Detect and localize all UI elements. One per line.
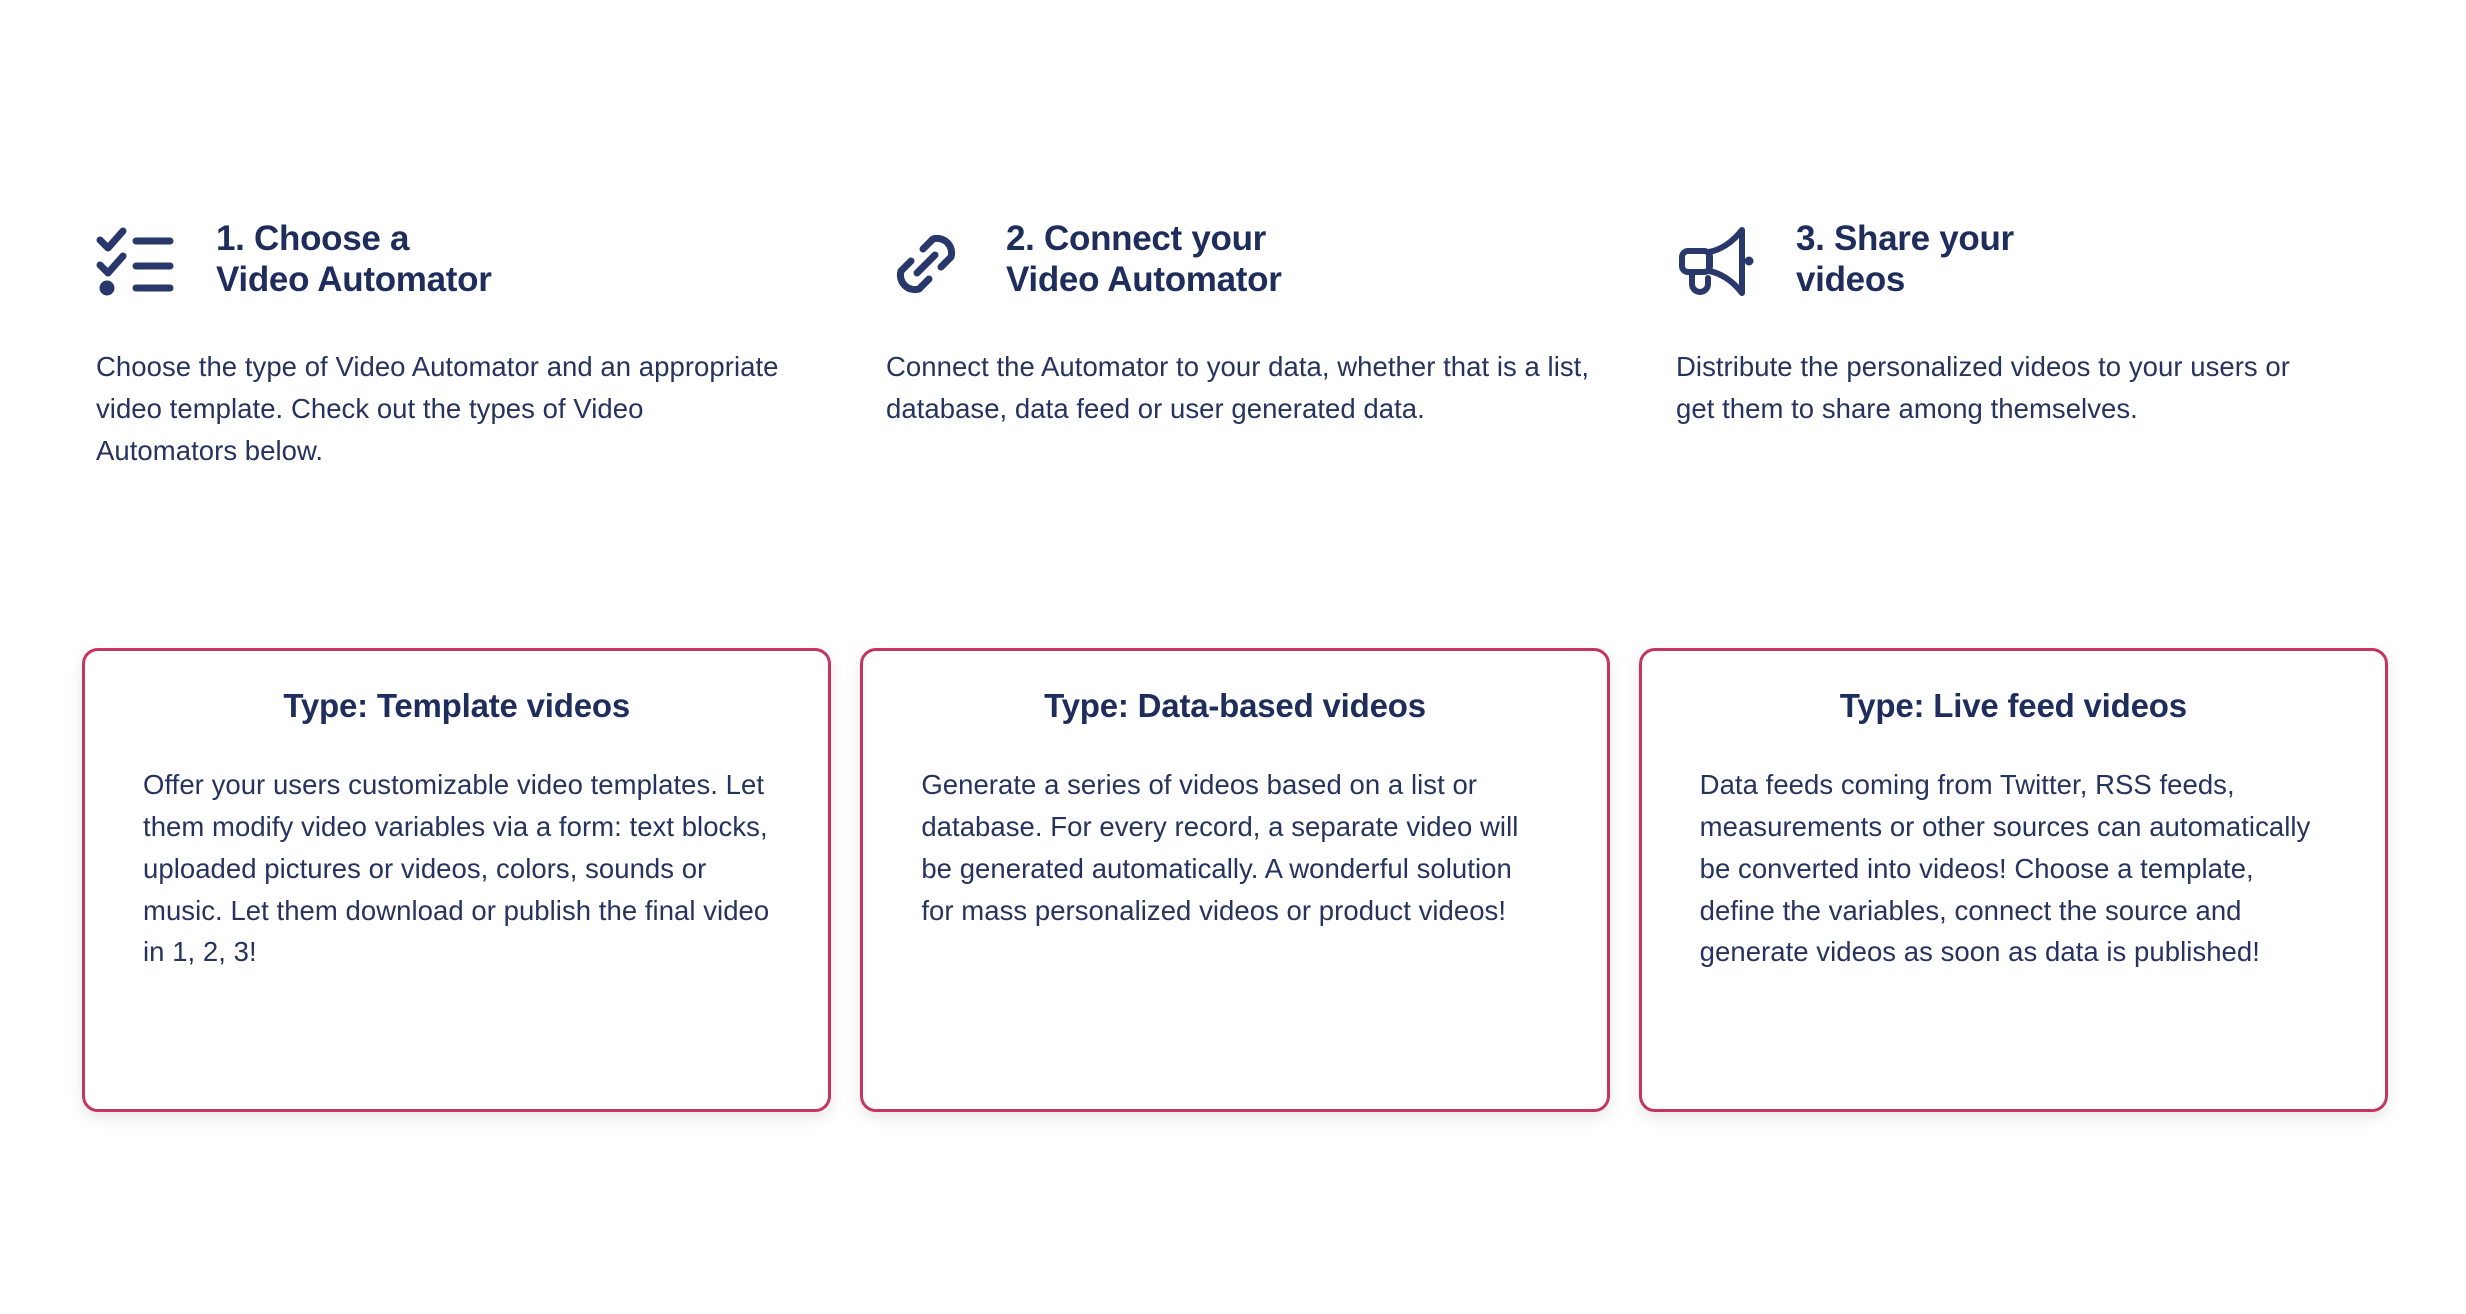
step-header-3: 3. Share your videos: [1676, 216, 2386, 308]
automator-types-section: Type: Template videos Offer your users c…: [82, 648, 2388, 1112]
step-description-1: Choose the type of Video Automator and a…: [96, 346, 786, 471]
card-title: Type: Live feed videos: [1700, 685, 2327, 726]
card-title: Type: Data-based videos: [921, 685, 1548, 726]
card-description: Data feeds coming from Twitter, RSS feed…: [1700, 764, 2327, 973]
megaphone-icon: [1676, 216, 1796, 300]
card-title: Type: Template videos: [143, 685, 770, 726]
step-item-2: 2. Connect your Video Automator Connect …: [886, 216, 1676, 471]
automator-type-card-live-feed[interactable]: Type: Live feed videos Data feeds coming…: [1639, 648, 2388, 1112]
link-chain-icon: [886, 216, 1006, 304]
page-root: 1. Choose a Video Automator Choose the t…: [0, 0, 2466, 1314]
step-description-2: Connect the Automator to your data, whet…: [886, 346, 1601, 430]
automator-type-card-data-based[interactable]: Type: Data-based videos Generate a serie…: [860, 648, 1609, 1112]
card-description: Generate a series of videos based on a l…: [921, 764, 1548, 931]
card-description: Offer your users customizable video temp…: [143, 764, 770, 973]
checklist-icon: [96, 216, 216, 298]
step-item-1: 1. Choose a Video Automator Choose the t…: [96, 216, 886, 471]
step-title-1: 1. Choose a Video Automator: [216, 216, 492, 301]
automator-type-card-template[interactable]: Type: Template videos Offer your users c…: [82, 648, 831, 1112]
step-item-3: 3. Share your videos Distribute the pers…: [1676, 216, 2386, 471]
step-title-3: 3. Share your videos: [1796, 216, 2014, 301]
steps-section: 1. Choose a Video Automator Choose the t…: [96, 216, 2386, 471]
step-title-2: 2. Connect your Video Automator: [1006, 216, 1282, 301]
step-description-3: Distribute the personalized videos to yo…: [1676, 346, 2336, 430]
step-header-1: 1. Choose a Video Automator: [96, 216, 886, 308]
step-header-2: 2. Connect your Video Automator: [886, 216, 1676, 308]
